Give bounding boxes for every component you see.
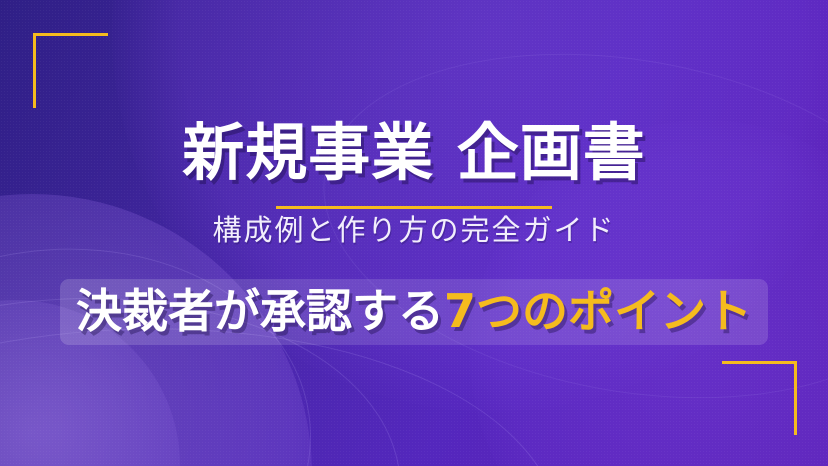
- page-subtitle: 構成例と作り方の完全ガイド: [212, 215, 615, 247]
- tagline-main-text: 決裁者が承認する: [76, 284, 444, 338]
- tagline-accent-text: 7つのポイント: [444, 284, 752, 338]
- thumbnail-canvas: 新規事業 企画書 構成例と作り方の完全ガイド 決裁者が承認する7つのポイント: [0, 0, 828, 466]
- tagline-highlight-band: 決裁者が承認する7つのポイント: [60, 279, 768, 345]
- page-title: 新規事業 企画書: [182, 122, 646, 184]
- title-block: 新規事業 企画書: [182, 122, 646, 184]
- tagline: 決裁者が承認する7つのポイント: [76, 284, 752, 338]
- thumbnail-content: 新規事業 企画書 構成例と作り方の完全ガイド 決裁者が承認する7つのポイント: [0, 0, 828, 466]
- title-underline-rule: [276, 206, 552, 209]
